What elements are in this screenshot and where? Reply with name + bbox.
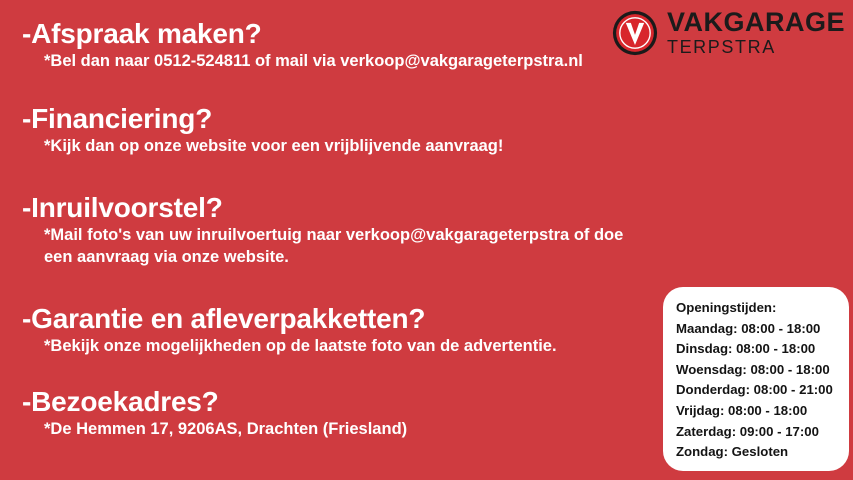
opening-hours-row: Dinsdag: 08:00 - 18:00: [676, 339, 849, 360]
opening-hours-row: Maandag: 08:00 - 18:00: [676, 319, 849, 340]
section-body: *Bekijk onze mogelijkheden op de laatste…: [44, 336, 682, 358]
section-line: een aanvraag via onze website.: [44, 247, 682, 269]
section-bezoekadres: -Bezoekadres? *De Hemmen 17, 9206AS, Dra…: [22, 386, 682, 441]
section-heading: -Afspraak maken?: [22, 18, 682, 50]
info-sections: -Afspraak maken? *Bel dan naar 0512-5248…: [22, 18, 682, 441]
section-body: *De Hemmen 17, 9206AS, Drachten (Friesla…: [44, 419, 682, 441]
section-heading: -Inruilvoorstel?: [22, 192, 682, 224]
logo-sub-text: TERPSTRA: [667, 38, 845, 56]
section-line: *Bekijk onze mogelijkheden op de laatste…: [44, 336, 682, 358]
section-line: *Bel dan naar 0512-524811 of mail via ve…: [44, 51, 682, 73]
advertisement-banner: VAKGARAGE TERPSTRA -Afspraak maken? *Bel…: [0, 0, 853, 480]
section-heading: -Bezoekadres?: [22, 386, 682, 418]
section-heading: -Financiering?: [22, 103, 682, 135]
section-inruilvoorstel: -Inruilvoorstel? *Mail foto's van uw inr…: [22, 192, 682, 269]
section-garantie-en-afleverpakketten: -Garantie en afleverpakketten? *Bekijk o…: [22, 303, 682, 358]
section-body: *Mail foto's van uw inruilvoertuig naar …: [44, 225, 682, 269]
opening-hours-row: Donderdag: 08:00 - 21:00: [676, 380, 849, 401]
section-body: *Kijk dan op onze website voor een vrijb…: [44, 136, 682, 158]
opening-hours-row: Woensdag: 08:00 - 18:00: [676, 360, 849, 381]
logo-main-text: VAKGARAGE: [667, 9, 845, 36]
section-afspraak-maken: -Afspraak maken? *Bel dan naar 0512-5248…: [22, 18, 682, 73]
opening-hours-row: Vrijdag: 08:00 - 18:00: [676, 401, 849, 422]
section-body: *Bel dan naar 0512-524811 of mail via ve…: [44, 51, 682, 73]
opening-hours-row: Zondag: Gesloten: [676, 442, 849, 463]
opening-hours-card: Openingstijden: Maandag: 08:00 - 18:00 D…: [663, 287, 849, 471]
section-financiering: -Financiering? *Kijk dan op onze website…: [22, 103, 682, 158]
section-line: *Mail foto's van uw inruilvoertuig naar …: [44, 225, 682, 247]
section-line: *De Hemmen 17, 9206AS, Drachten (Friesla…: [44, 419, 682, 441]
section-heading: -Garantie en afleverpakketten?: [22, 303, 682, 335]
logo-wordmark: VAKGARAGE TERPSTRA: [667, 9, 845, 56]
opening-hours-title: Openingstijden:: [676, 298, 849, 319]
section-line: *Kijk dan op onze website voor een vrijb…: [44, 136, 682, 158]
opening-hours-row: Zaterdag: 09:00 - 17:00: [676, 422, 849, 443]
